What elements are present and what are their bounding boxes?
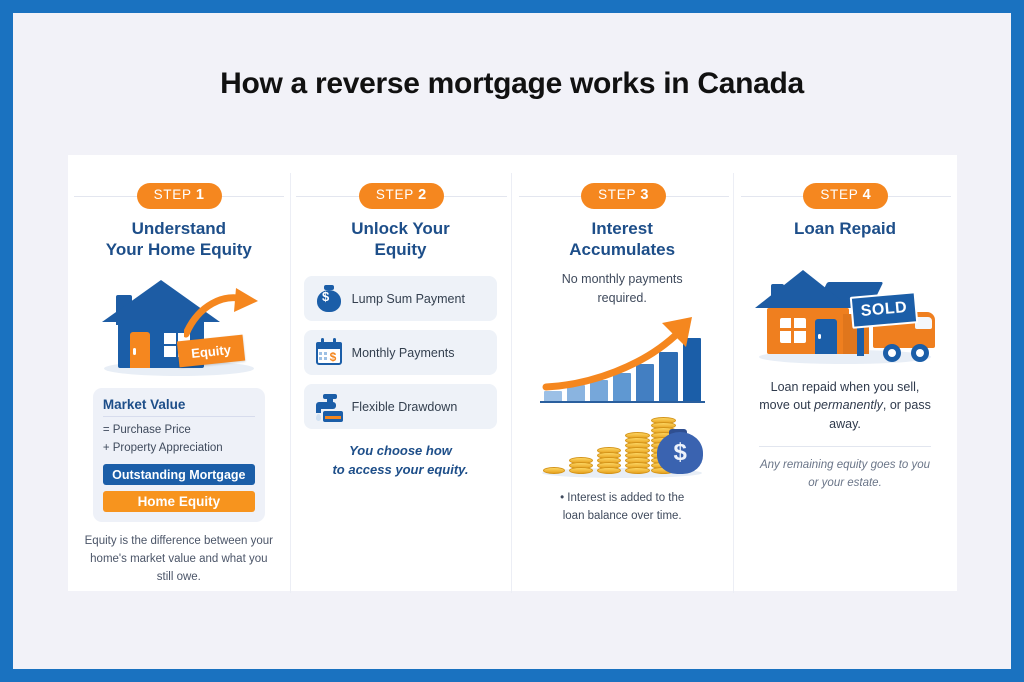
step-badge-1[interactable]: STEP 1 (137, 183, 222, 209)
step-3-note: No monthly payments required. (562, 270, 683, 306)
step-3-bullet-line1: • Interest is added to the (560, 489, 684, 507)
step-column-3: Interest Accumulates No monthly payments… (511, 211, 733, 591)
growth-arrow-icon (540, 315, 705, 405)
step-1-heading-line1: Understand (106, 219, 252, 240)
door-knob (133, 348, 136, 355)
step-4-heading: Loan Repaid (794, 219, 896, 240)
house-sold-illustration: SOLD (747, 262, 943, 366)
step-4-body-line2-pre: move out (759, 398, 814, 412)
step-4-muted-line2: or your estate. (760, 475, 930, 493)
option-label: Lump Sum Payment (352, 292, 465, 306)
market-value-title: Market Value (103, 397, 255, 417)
truck-wheel (883, 344, 901, 362)
equity-options-list: $ Lump Sum Payment $ Mont (304, 276, 498, 438)
home-equity-bar: Home Equity (103, 491, 255, 512)
market-value-box: Market Value = Purchase Price + Property… (93, 388, 265, 522)
step-2-footer: You choose how to access your equity. (332, 442, 468, 480)
step-columns: Understand Your Home Equity Equity (68, 211, 957, 591)
money-bag-icon: $ (314, 284, 344, 314)
truck-wheel (911, 344, 929, 362)
sold-sign: SOLD (850, 291, 919, 329)
coin-stack (597, 449, 621, 474)
curved-arrow-icon (184, 288, 260, 338)
step-2-heading-line2: Equity (351, 240, 450, 261)
step-2-heading: Unlock Your Equity (351, 219, 450, 260)
option-flexible-drawdown[interactable]: Flexible Drawdown (304, 384, 498, 429)
outstanding-mortgage-bar: Outstanding Mortgage (103, 464, 255, 485)
page-title: How a reverse mortgage works in Canada (220, 67, 804, 101)
badge-number: 3 (640, 187, 649, 203)
badge-cell-1: STEP 1 (68, 181, 290, 211)
step-4-body-line2: move out permanently, or pass away. (747, 396, 943, 434)
interest-growth-bar-chart (540, 315, 705, 405)
badge-number: 4 (863, 187, 872, 203)
window-icon (780, 318, 806, 343)
option-lump-sum[interactable]: $ Lump Sum Payment (304, 276, 498, 321)
badge-word: STEP (154, 187, 192, 202)
step-2-footer-line1: You choose how (332, 442, 468, 461)
step-1-heading: Understand Your Home Equity (106, 219, 252, 260)
step-4-heading-line1: Loan Repaid (794, 219, 896, 240)
coin-stack (543, 469, 565, 474)
market-value-line-1: = Purchase Price (103, 422, 255, 440)
option-monthly-payments[interactable]: $ Monthly Payments (304, 330, 498, 375)
badge-cell-3: STEP 3 (513, 181, 735, 211)
step-4-body-emphasis: permanently (814, 398, 883, 412)
step-3-bullet-line2: loan balance over time. (560, 507, 684, 525)
badge-number: 1 (196, 187, 205, 203)
step-2-footer-line2: to access your equity. (332, 461, 468, 480)
coin-stack (569, 459, 593, 474)
step-3-note-line2: required. (562, 289, 683, 307)
step-badge-3[interactable]: STEP 3 (581, 183, 666, 209)
step-badge-row: STEP 1 STEP 2 STEP 3 (68, 181, 957, 211)
step-3-heading-line1: Interest (569, 219, 675, 240)
step-3-note-line1: No monthly payments (562, 270, 683, 288)
roof-shape (755, 270, 851, 308)
step-column-2: Unlock Your Equity $ Lump Sum Payment (290, 211, 512, 591)
step-3-bullet: • Interest is added to the loan balance … (560, 489, 684, 526)
house-equity-illustration: Equity (88, 274, 270, 378)
option-label: Flexible Drawdown (352, 400, 458, 414)
market-value-line-2: + Property Appreciation (103, 440, 255, 458)
step-1-footer: Equity is the difference between your ho… (82, 533, 276, 586)
step-column-4: Loan Repaid (733, 211, 957, 591)
step-3-heading-line2: Accumulates (569, 240, 675, 261)
step-4-body-line1: Loan repaid when you sell, (747, 378, 943, 397)
equity-banner: Equity (177, 335, 245, 368)
step-column-1: Understand Your Home Equity Equity (68, 211, 290, 591)
title-area: How a reverse mortgage works in Canada (13, 13, 1011, 155)
coin-stack (625, 434, 650, 474)
dollar-sign: $ (657, 439, 703, 467)
infographic-frame: How a reverse mortgage works in Canada S… (13, 13, 1011, 669)
step-4-body: Loan repaid when you sell, move out perm… (747, 378, 943, 434)
step-4-muted-note: Any remaining equity goes to you or your… (760, 457, 930, 493)
option-label: Monthly Payments (352, 346, 455, 360)
step-1-heading-line2: Your Home Equity (106, 240, 252, 261)
step-4-muted-line1: Any remaining equity goes to you (760, 457, 930, 475)
badge-cell-4: STEP 4 (735, 181, 957, 211)
badge-cell-2: STEP 2 (290, 181, 512, 211)
steps-card: STEP 1 STEP 2 STEP 3 (68, 155, 957, 591)
step-badge-2[interactable]: STEP 2 (359, 183, 444, 209)
step-2-heading-line1: Unlock Your (351, 219, 450, 240)
badge-word: STEP (820, 187, 858, 202)
calendar-dollar-icon: $ (314, 338, 344, 368)
badge-word: STEP (598, 187, 636, 202)
step-3-heading: Interest Accumulates (569, 219, 675, 260)
faucet-card-icon (314, 392, 344, 422)
badge-number: 2 (418, 187, 427, 203)
coin-stacks-illustration: $ (537, 411, 707, 479)
step-badge-4[interactable]: STEP 4 (803, 183, 888, 209)
door-knob (818, 334, 821, 339)
badge-word: STEP (376, 187, 414, 202)
divider (759, 446, 931, 447)
